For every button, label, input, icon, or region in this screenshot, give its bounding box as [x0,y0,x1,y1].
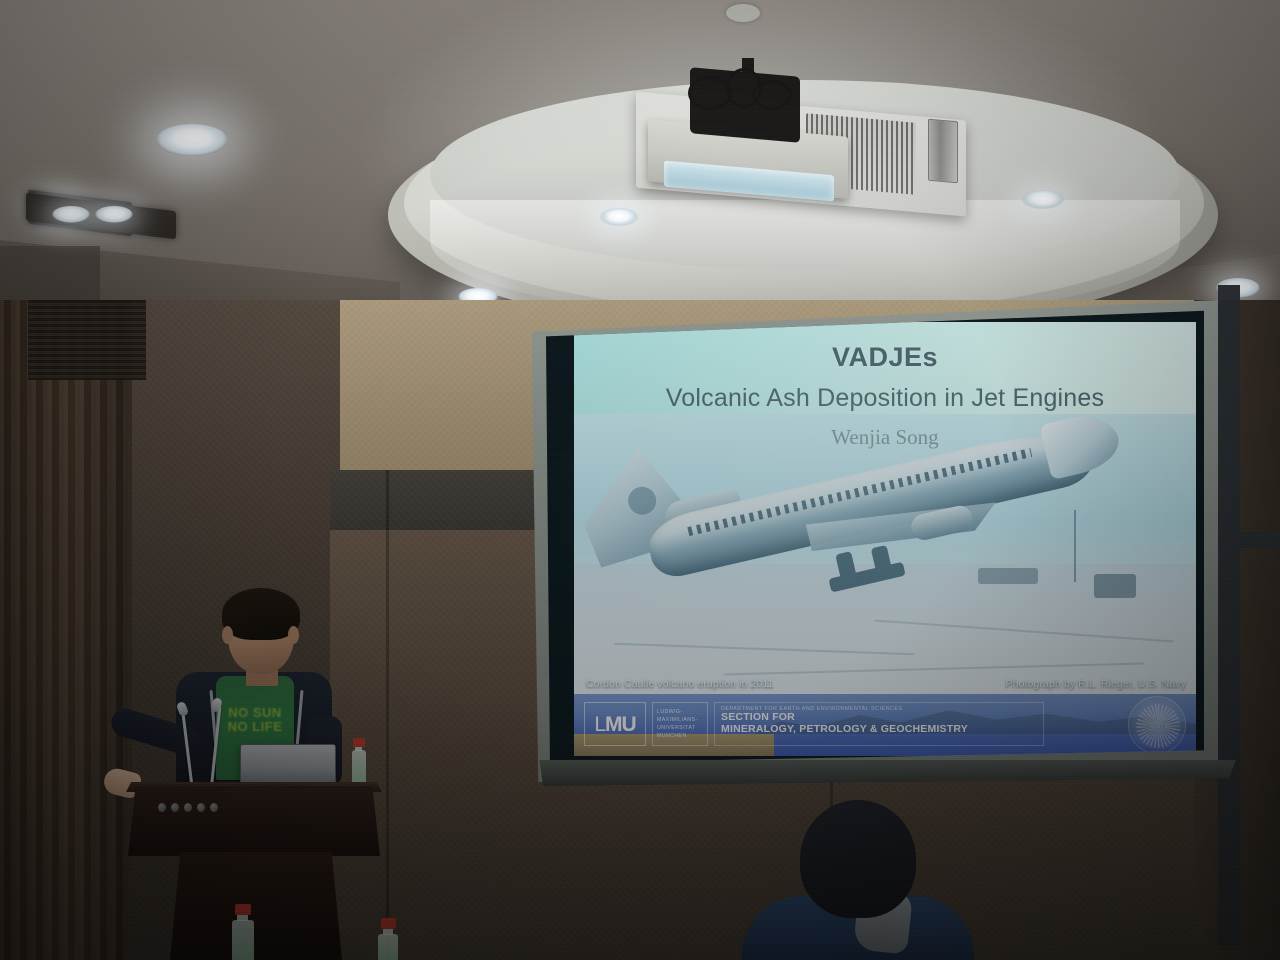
podium [128,786,380,856]
left-curtain [0,300,132,960]
ceiling-light-upper-left-3 [95,206,133,223]
ceiling-light-upper-left-2 [52,206,90,223]
water-bottle-podium-cap [353,738,365,747]
podium-button-4[interactable] [197,803,205,812]
university-line-3: UNIVERSITAT [657,724,707,732]
wall-vent-grille-icon [28,300,146,380]
presentation-slide: Cordon Caulle volcano eruption in 2011 P… [574,322,1196,756]
section-line-2: MINERALOGY, PETROLOGY & GEOCHEMISTRY [721,724,1037,736]
slide-caption-left: Cordon Caulle volcano eruption in 2011 [586,678,773,690]
presenter-ear-right [288,626,299,644]
slide-footer-banner: LMU LUDWIG- MAXIMILIANS- UNIVERSITAT MUN… [574,694,1196,756]
ceiling-light-dome-left [600,208,638,226]
right-dark-pillar [1218,285,1240,945]
university-line-1: LUDWIG- [657,708,707,716]
lmu-logo-prefix: L [594,713,605,736]
lmu-logo-suffix: MU [605,713,636,736]
podium-button-2[interactable] [171,803,179,812]
ceiling-smoke-detector-icon [726,4,760,22]
ceiling-light-upper-left-big [156,124,228,156]
projection-screen: Cordon Caulle volcano eruption in 2011 P… [542,308,1204,766]
university-name-block: LUDWIG- MAXIMILIANS- UNIVERSITAT MUNCHEN [652,702,708,746]
slide-caption-right: Photograph by R.L. Rieger, U.S. Navy [1006,678,1186,690]
water-bottle-floor-2 [378,934,398,960]
distant-vehicle-2 [1094,574,1136,598]
university-line-2: MAXIMILIANS- [657,716,707,724]
water-bottle-floor-1-cap [235,904,251,915]
slide-photo-aircraft: Cordon Caulle volcano eruption in 2011 P… [574,414,1196,696]
lmu-logo: LMU [584,702,646,746]
ac-vane-icon [928,119,958,184]
audience-member-head [800,800,916,918]
projector-cable-3 [752,80,792,110]
presenter-laptop[interactable] [240,744,336,788]
lecture-hall-scene: Cordon Caulle volcano eruption in 2011 P… [0,0,1280,960]
water-bottle-floor-2-cap [381,918,396,929]
circular-seal-icon [1128,696,1186,754]
seal-spokes [1136,704,1180,748]
wall-panel-seam-1 [386,470,389,960]
podium-button-1[interactable] [158,803,166,812]
section-line-1: SECTION FOR [721,712,1037,724]
water-bottle-floor-1 [232,920,254,960]
presenter-tshirt-text: NO SUN NO LIFE [218,706,292,734]
podium-button-5[interactable] [210,803,218,812]
slide-author: Wenjia Song [574,425,1196,450]
podium-button-3[interactable] [184,803,192,812]
podium-control-buttons[interactable] [158,802,218,813]
tshirt-line-1: NO SUN [218,706,292,720]
slide-subtitle: Volcanic Ash Deposition in Jet Engines [574,384,1196,413]
department-block: DEPARTMENT FOR EARTH AND ENVIRONMENTAL S… [714,702,1044,746]
presenter-ear-left [222,626,233,644]
podium-base [170,852,342,960]
tshirt-line-2: NO LIFE [218,720,292,734]
university-line-4: MUNCHEN [657,732,707,740]
ceiling-light-dome-right [1022,190,1064,209]
projector-cable-1 [688,76,732,110]
slide-title: VADJEs [574,342,1196,373]
